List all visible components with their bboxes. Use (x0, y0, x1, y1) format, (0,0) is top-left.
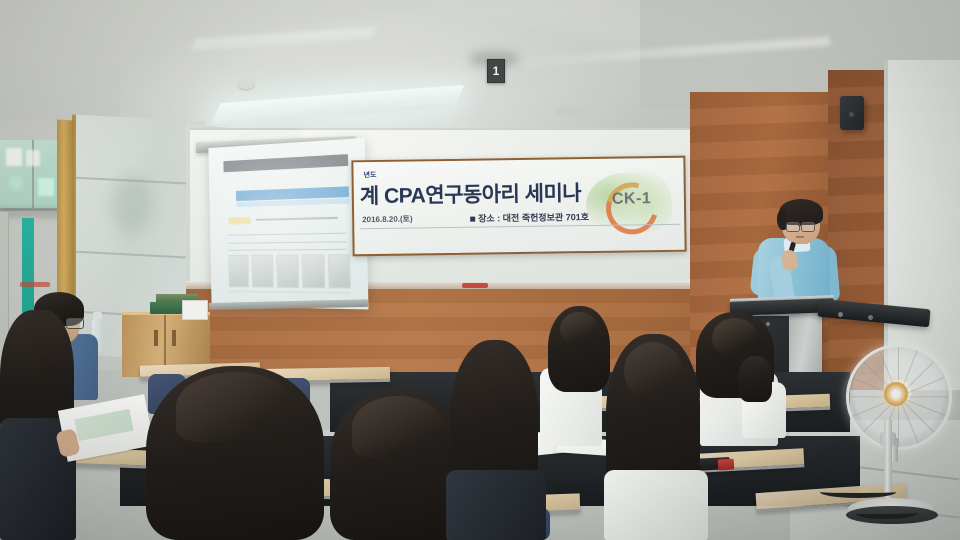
hair-highlight (712, 318, 758, 358)
glass-reflection (112, 176, 152, 234)
cabinet-handle (154, 330, 158, 346)
slide-thumb (327, 255, 351, 289)
ceiling-vent (556, 107, 580, 115)
attendee-torso (446, 470, 546, 540)
glasses-bridge (798, 225, 802, 226)
bullet-square-icon (470, 217, 475, 222)
seminar-banner: CK-1 년도 계 CPA연구동아리 세미나 2016.8.20.(토) 장소 … (351, 156, 686, 257)
hair-highlight (176, 372, 296, 442)
banner-place: 장소 : 대전 죽헌정보관 701호 (470, 210, 589, 225)
slide-thumb (228, 255, 249, 287)
podium-indicator (766, 322, 770, 326)
banner-year-prefix: 년도 (363, 170, 376, 180)
phone-case (718, 459, 735, 471)
smoke-detector-icon (238, 80, 254, 89)
slide-tag-text-line (256, 217, 338, 221)
window-glint (10, 176, 22, 190)
cabinet-handle (172, 330, 176, 346)
slide-title-bar (223, 154, 348, 172)
window-glint (38, 178, 54, 196)
power-cord (820, 486, 896, 498)
marker (462, 283, 488, 288)
window-glint (26, 150, 40, 166)
slide-image-grid (228, 255, 351, 289)
glasses-icon (786, 222, 800, 232)
attendee-hair (738, 356, 772, 402)
slide-thumb (276, 255, 299, 288)
slide-thumb (252, 255, 274, 288)
right-light-wall (888, 60, 960, 390)
banner-title: 계 CPA연구동아리 세미나 (360, 177, 582, 210)
bolt (868, 315, 873, 320)
presenter-mouth (796, 236, 804, 238)
bottle-cap (93, 312, 102, 319)
slide-highlight-tag (229, 216, 251, 225)
hair-highlight (560, 312, 598, 346)
glasses-icon (801, 222, 815, 232)
banner-place-text: 장소 : 대전 죽헌정보관 701호 (478, 212, 589, 224)
window-glint (6, 148, 22, 166)
ck1-logo-text: CK-1 (612, 190, 674, 209)
glasses-icon (66, 318, 84, 329)
projection-screen (208, 138, 368, 310)
ck1-logo: CK-1 (581, 166, 676, 241)
power-cord (856, 506, 918, 519)
fan-hub (884, 382, 908, 406)
slide-thumb (301, 255, 324, 289)
marker (20, 282, 50, 287)
slide-caption-row (229, 290, 351, 294)
speaker-driver (849, 112, 854, 117)
photograph-scene: 1 (0, 0, 960, 540)
notice-paper (182, 300, 208, 320)
ceiling-room-number-sign: 1 (487, 59, 505, 83)
banner-date: 2016.8.20.(토) (362, 213, 413, 225)
hair-highlight (624, 342, 682, 400)
left-door-edge (0, 212, 9, 342)
attendee-torso (604, 470, 708, 540)
hair-highlight (352, 396, 444, 458)
